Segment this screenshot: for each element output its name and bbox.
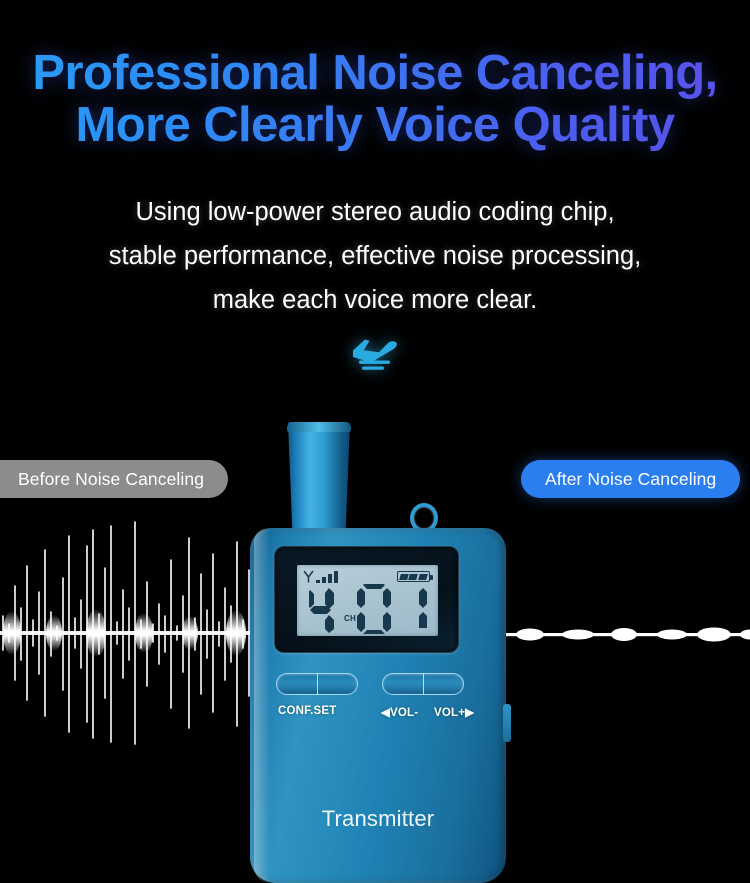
subtitle-line-1: Using low-power stereo audio coding chip… [0, 190, 750, 234]
battery-cell-3 [418, 574, 428, 580]
antenna-icon [303, 570, 314, 583]
lcd-status-row [303, 569, 432, 584]
volume-rocker-button[interactable] [382, 673, 464, 695]
subtitle: Using low-power stereo audio coding chip… [0, 190, 750, 322]
battery-cell-2 [408, 574, 418, 580]
signal-bar-3 [328, 574, 332, 583]
signal-strength-icon [303, 570, 338, 583]
battery-icon [397, 571, 430, 582]
volume-up-label: VOL+▶ [434, 705, 474, 719]
airplane-takeoff-icon [349, 331, 401, 371]
lcd-bezel: CH [274, 546, 459, 653]
headline-line-2: More Clearly Voice Quality [0, 100, 750, 152]
channel-digit-4 [309, 588, 334, 633]
device-body: CH CONF.SET ◀VOL- VOL+▶ Transmitter [250, 528, 506, 883]
volume-down-label: ◀VOL- [381, 705, 418, 719]
side-button[interactable] [503, 704, 511, 742]
after-noise-canceling-badge: After Noise Canceling [521, 460, 740, 498]
subtitle-line-2: stable performance, effective noise proc… [0, 234, 750, 278]
conf-set-button[interactable] [276, 673, 358, 695]
product-banner: Professional Noise Canceling, More Clear… [0, 0, 750, 883]
seven-segment-display [309, 584, 431, 634]
after-badge-label: After Noise Canceling [545, 469, 716, 490]
battery-cell-1 [399, 574, 409, 580]
after-waveform [500, 590, 750, 680]
page-title: Professional Noise Canceling, More Clear… [0, 48, 750, 152]
headline-line-1: Professional Noise Canceling, [32, 46, 717, 100]
frequency-digit-0 [357, 584, 391, 634]
frequency-digit-1 [419, 588, 427, 628]
before-noise-canceling-badge: Before Noise Canceling [0, 460, 228, 498]
lcd-main-readout: CH [297, 583, 438, 635]
antenna-tip [287, 422, 351, 432]
conf-set-label: CONF.SET [278, 705, 336, 717]
device-model-label: Transmitter [250, 806, 506, 832]
signal-bar-4 [334, 571, 338, 583]
before-waveform [0, 520, 279, 745]
divider [0, 331, 750, 376]
subtitle-line-3: make each voice more clear. [0, 278, 750, 322]
antenna-stub [286, 422, 352, 537]
transmitter-device: CH CONF.SET ◀VOL- VOL+▶ Transmitter [250, 422, 506, 883]
lcd-screen: CH [297, 565, 438, 636]
before-badge-label: Before Noise Canceling [18, 469, 204, 490]
channel-label: CH [344, 614, 356, 623]
